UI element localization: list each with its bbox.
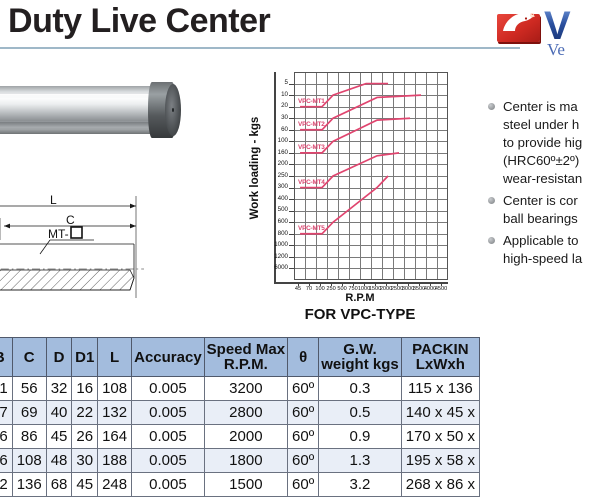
chart-series-label: VPC-MT3 bbox=[298, 144, 325, 151]
table-cell: 30 bbox=[72, 449, 98, 473]
table-cell: 60º bbox=[288, 377, 319, 401]
chart-y-tick-label: 60 bbox=[258, 127, 288, 133]
datasheet-page: ht Duty Live Center V Ve bbox=[0, 0, 600, 491]
chart-y-tick-mark bbox=[289, 95, 294, 96]
table-cell: 46 bbox=[0, 449, 12, 473]
table-cell: 248 bbox=[98, 473, 132, 497]
table-cell: 0.9 bbox=[319, 425, 402, 449]
table-row: 4610848301880.005180060º1.3195 x 58 x bbox=[0, 449, 479, 473]
bullet-dot bbox=[488, 197, 495, 204]
table-cell: 60º bbox=[288, 473, 319, 497]
chart-y-tick-label: 160 bbox=[258, 150, 288, 156]
product-photo bbox=[0, 58, 204, 173]
table-body: 315632161080.005320060º0.3115 x 13637694… bbox=[0, 377, 479, 497]
table-cell: 0.005 bbox=[132, 425, 205, 449]
table-cell: 32 bbox=[46, 377, 72, 401]
table-cell: 164 bbox=[98, 425, 132, 449]
table-col-header: C bbox=[12, 338, 46, 377]
table-cell: 0.3 bbox=[319, 377, 402, 401]
chart-y-tick-label: 400 bbox=[258, 196, 288, 202]
table-col-header: L bbox=[98, 338, 132, 377]
table-col-header: PACKIN LxWxh bbox=[401, 338, 479, 377]
feature-text: Applicable to high-speed la bbox=[503, 233, 582, 266]
table-cell: 86 bbox=[12, 425, 46, 449]
table-cell: 170 x 50 x bbox=[401, 425, 479, 449]
table-cell: 115 x 136 bbox=[401, 377, 479, 401]
chart-y-tick-label: 6000 bbox=[258, 265, 288, 271]
chart-y-tick-label: 600 bbox=[258, 219, 288, 225]
table-cell: 37 bbox=[0, 401, 12, 425]
dimension-drawing: MT- L B C bbox=[0, 178, 204, 328]
table-cell: 188 bbox=[98, 449, 132, 473]
table-cell: 2800 bbox=[204, 401, 287, 425]
eagle-head-icon bbox=[501, 10, 537, 34]
table-cell: 108 bbox=[98, 377, 132, 401]
chart-x-axis-label: R.P.M bbox=[274, 292, 446, 304]
feature-text: Center is cor ball bearings bbox=[503, 193, 578, 226]
chart-y-tick-label: 100 bbox=[258, 138, 288, 144]
chart-y-tick-mark bbox=[289, 118, 294, 119]
photo-highlight bbox=[0, 94, 154, 100]
table-cell: 3200 bbox=[204, 377, 287, 401]
table-cell: 1.3 bbox=[319, 449, 402, 473]
chart-y-tick-label: 10 bbox=[258, 92, 288, 98]
table-cell: 132 bbox=[98, 401, 132, 425]
chart-plot-area: 5102030601001602002503004005006008001000… bbox=[274, 72, 448, 284]
table-row: 315632161080.005320060º0.3115 x 136 bbox=[0, 377, 479, 401]
chart-y-tick-mark bbox=[289, 199, 294, 200]
chart-y-tick-label: 1000 bbox=[258, 242, 288, 248]
table-cell: 45 bbox=[72, 473, 98, 497]
feature-text: Center is ma steel under h to provide hi… bbox=[503, 99, 582, 186]
table-cell: 31 bbox=[0, 377, 12, 401]
chart-y-tick-label: 5 bbox=[258, 80, 288, 86]
table-cell: 48 bbox=[46, 449, 72, 473]
table-cell: 60º bbox=[288, 425, 319, 449]
photo-center-point bbox=[172, 108, 174, 112]
photo-shadow bbox=[0, 122, 154, 129]
chart-y-tick-mark bbox=[289, 211, 294, 212]
table-cell: 136 bbox=[12, 473, 46, 497]
table-cell: 0.005 bbox=[132, 401, 205, 425]
chart-y-tick-mark bbox=[289, 257, 294, 258]
feature-item: Center is cor ball bearings bbox=[487, 192, 600, 228]
table-cell: 1800 bbox=[204, 449, 287, 473]
chart-y-tick-label: 800 bbox=[258, 231, 288, 237]
table-cell: 195 x 58 x bbox=[401, 449, 479, 473]
header-divider bbox=[0, 47, 520, 49]
bullet-dot bbox=[488, 103, 495, 110]
table-col-header: Speed Max R.P.M. bbox=[204, 338, 287, 377]
table-cell: 56 bbox=[12, 377, 46, 401]
chart-y-tick-mark bbox=[289, 153, 294, 154]
chart-y-tick-mark bbox=[289, 268, 294, 269]
logo-subtext: Ve bbox=[547, 40, 565, 60]
table-cell: 268 x 86 x bbox=[401, 473, 479, 497]
table-col-header: G.W. weight kgs bbox=[319, 338, 402, 377]
table-cell: 3.2 bbox=[319, 473, 402, 497]
chart-y-tick-mark bbox=[289, 141, 294, 142]
table-col-header: D1 bbox=[72, 338, 98, 377]
table-cell: 26 bbox=[72, 425, 98, 449]
table-row: 6213668452480.005150060º3.2268 x 86 x bbox=[0, 473, 479, 497]
table-row: 468645261640.005200060º0.9170 x 50 x bbox=[0, 425, 479, 449]
table-cell: 140 x 45 x bbox=[401, 401, 479, 425]
table-cell: 0.005 bbox=[132, 377, 205, 401]
table-cell: 62 bbox=[0, 473, 12, 497]
table-col-header: B bbox=[0, 338, 12, 377]
load-speed-chart: Work loading - kgs 510203060100160200250… bbox=[232, 70, 474, 332]
chart-y-tick-label: 30 bbox=[258, 115, 288, 121]
table-cell: 0.5 bbox=[319, 401, 402, 425]
chart-y-tick-label: 1200 bbox=[258, 254, 288, 260]
table-cell: 69 bbox=[12, 401, 46, 425]
table-cell: 0.005 bbox=[132, 473, 205, 497]
chart-y-tick-label: 20 bbox=[258, 103, 288, 109]
table-header-row: BCDD1LAccuracySpeed Max R.P.M.θG.W. weig… bbox=[0, 338, 479, 377]
table-cell: 0.005 bbox=[132, 449, 205, 473]
chart-series-label: VPC-MT2 bbox=[298, 121, 325, 128]
table-cell: 1500 bbox=[204, 473, 287, 497]
table-cell: 45 bbox=[46, 425, 72, 449]
table-col-header: Accuracy bbox=[132, 338, 205, 377]
brand-logo: V Ve bbox=[497, 8, 600, 52]
dim-label-L: L bbox=[50, 193, 57, 207]
chart-series-label: VPC-MT1 bbox=[298, 98, 325, 105]
chart-y-tick-label: 300 bbox=[258, 184, 288, 190]
table-cell: 2000 bbox=[204, 425, 287, 449]
chart-y-tick-mark bbox=[289, 222, 294, 223]
chart-y-tick-mark bbox=[289, 245, 294, 246]
chart-y-tick-mark bbox=[289, 130, 294, 131]
chart-y-tick-label: 500 bbox=[258, 207, 288, 213]
table-col-header: θ bbox=[288, 338, 319, 377]
feature-list: Center is ma steel under h to provide hi… bbox=[487, 98, 600, 272]
chart-y-tick-mark bbox=[289, 176, 294, 177]
table-cell: 22 bbox=[72, 401, 98, 425]
chart-y-tick-label: 250 bbox=[258, 173, 288, 179]
table-col-header: D bbox=[46, 338, 72, 377]
table-cell: 68 bbox=[46, 473, 72, 497]
bullet-dot bbox=[488, 237, 495, 244]
spec-table: BCDD1LAccuracySpeed Max R.P.M.θG.W. weig… bbox=[0, 337, 480, 497]
dim-label-C: C bbox=[66, 213, 75, 227]
chart-y-tick-mark bbox=[289, 107, 294, 108]
mt-taper-label: MT- bbox=[48, 227, 69, 241]
chart-y-tick-mark bbox=[289, 188, 294, 189]
table-cell: 60º bbox=[288, 449, 319, 473]
table-cell: 16 bbox=[72, 377, 98, 401]
table-cell: 46 bbox=[0, 425, 12, 449]
table-cell: 108 bbox=[12, 449, 46, 473]
chart-series-label: VPC-MT4 bbox=[298, 179, 325, 186]
chart-y-tick-mark bbox=[289, 84, 294, 85]
dimension-drawing-svg: MT- L B C bbox=[0, 178, 204, 328]
table-cell: 60º bbox=[288, 401, 319, 425]
chart-x-tick-mark bbox=[441, 282, 442, 286]
feature-item: Center is ma steel under h to provide hi… bbox=[487, 98, 600, 188]
chart-caption: FOR VPC-TYPE bbox=[254, 306, 466, 323]
chart-y-tick-mark bbox=[289, 164, 294, 165]
table-cell: 40 bbox=[46, 401, 72, 425]
chart-y-tick-mark bbox=[289, 234, 294, 235]
page-header: ht Duty Live Center V Ve bbox=[0, 0, 600, 52]
chart-series-label: VPC-MT5 bbox=[298, 225, 325, 232]
page-title: ht Duty Live Center bbox=[0, 2, 270, 41]
feature-item: Applicable to high-speed la bbox=[487, 232, 600, 268]
chart-y-tick-label: 200 bbox=[258, 161, 288, 167]
table-row: 376940221320.005280060º0.5140 x 45 x bbox=[0, 401, 479, 425]
